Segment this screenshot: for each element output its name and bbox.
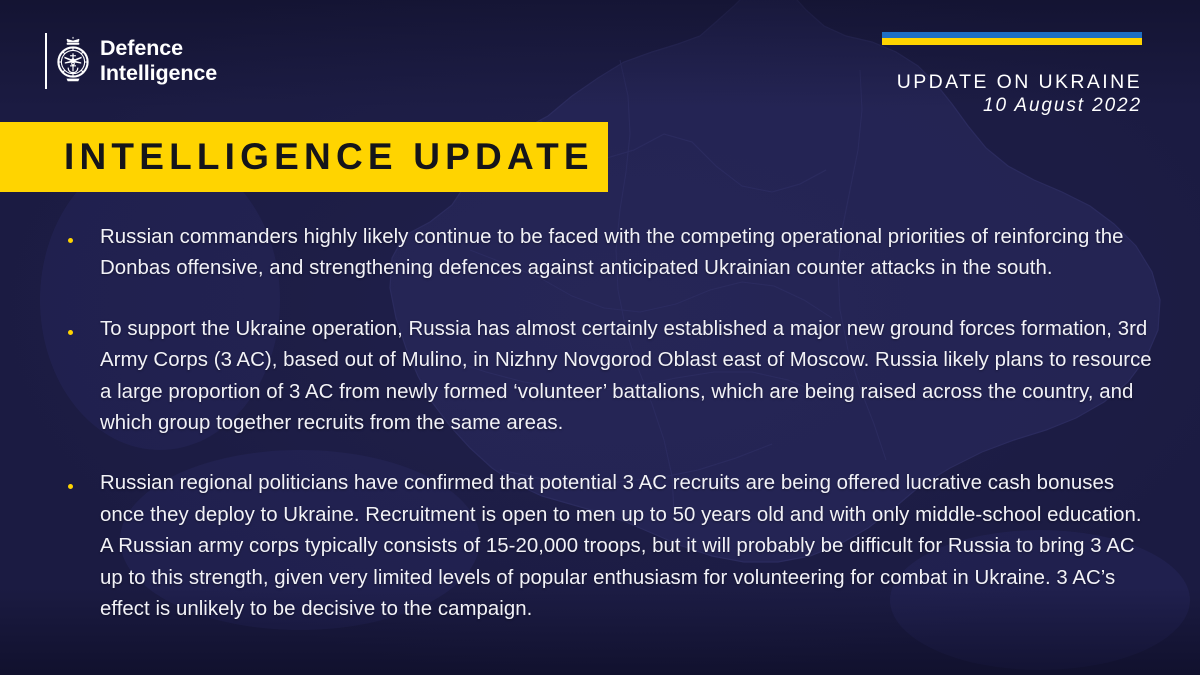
logo-wordmark-line2: Intelligence [100, 61, 217, 87]
bullet-item: To support the Ukraine operation, Russia… [0, 314, 1200, 440]
intelligence-update-banner: INTELLIGENCE UPDATE [0, 122, 608, 192]
defence-intelligence-crest-icon [57, 35, 89, 87]
bullet-dot-icon [68, 238, 73, 243]
banner-title: INTELLIGENCE UPDATE [64, 137, 594, 177]
header-meta: UPDATE ON UKRAINE 10 August 2022 [897, 71, 1142, 117]
bullet-list: Russian commanders highly likely continu… [0, 222, 1200, 625]
bullet-text: Russian regional politicians have confir… [100, 468, 1154, 625]
update-date: 10 August 2022 [897, 94, 1142, 117]
bullet-text: Russian commanders highly likely continu… [100, 222, 1154, 285]
logo-wordmark: Defence Intelligence [100, 36, 217, 87]
bullet-text: To support the Ukraine operation, Russia… [100, 314, 1154, 440]
ukraine-flag-bar [882, 32, 1142, 45]
bullet-item: Russian regional politicians have confir… [0, 468, 1200, 625]
bullet-item: Russian commanders highly likely continu… [0, 222, 1200, 285]
flag-yellow-stripe [882, 38, 1142, 45]
page-header: Defence Intelligence UPDATE ON UKRAINE 1… [0, 0, 1200, 122]
bullet-dot-icon [68, 330, 73, 335]
bullet-dot-icon [68, 484, 73, 489]
logo-divider-rule [45, 33, 47, 89]
logo-wordmark-line1: Defence [100, 36, 217, 62]
defence-intelligence-logo: Defence Intelligence [45, 33, 217, 89]
update-on-ukraine-title: UPDATE ON UKRAINE [897, 71, 1142, 93]
